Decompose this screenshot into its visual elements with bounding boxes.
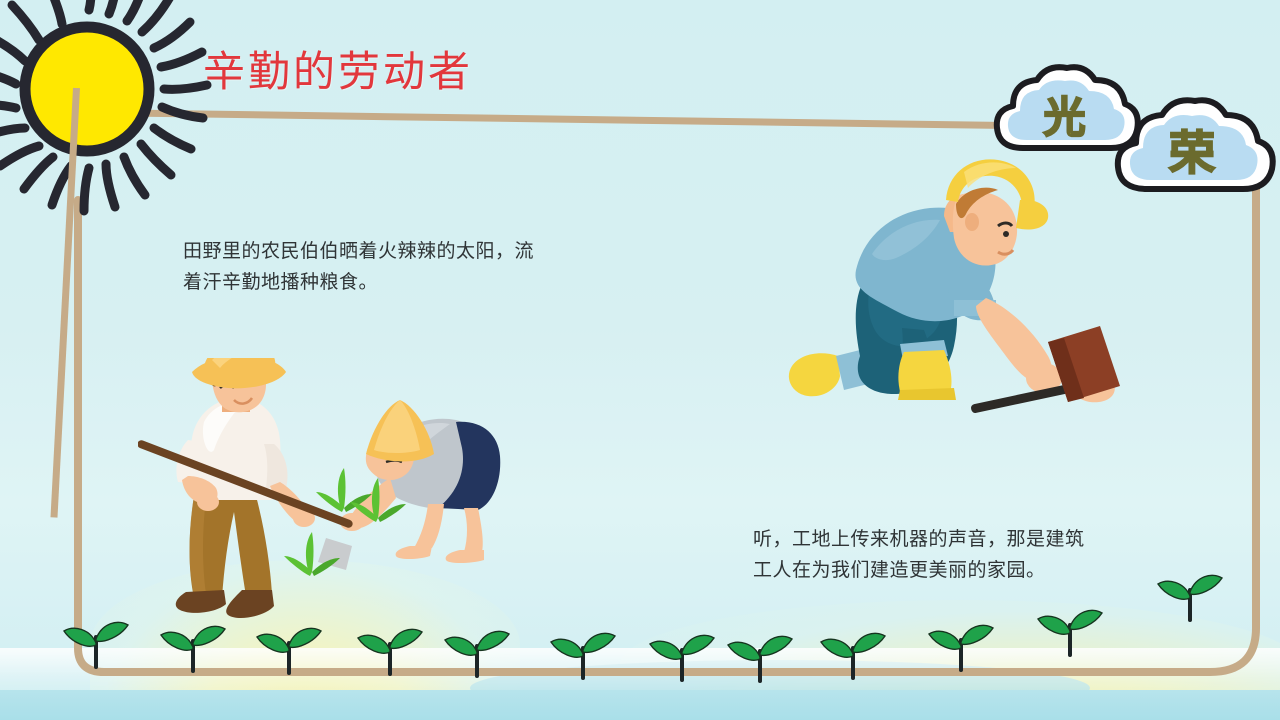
farmers-illustration [138, 358, 528, 623]
standing-farmer-sleeve-right [264, 444, 288, 488]
bending-farmer-leg-front [464, 508, 483, 552]
sun-icon [0, 0, 232, 238]
slide-canvas: 光 荣 辛勤的劳动者 田野里的农民伯伯晒着火辣辣的太阳，流 着汗辛勤地播种粮食。… [0, 0, 1280, 720]
worker-boot-sole [898, 388, 956, 400]
worker-glove-left [789, 353, 840, 396]
farmer-paragraph-line1: 田野里的农民伯伯晒着火辣辣的太阳，流 [183, 236, 583, 267]
standing-farmer-shoe-back [176, 590, 226, 613]
builder-paragraph: 听，工地上传来机器的声音，那是建筑 工人在为我们建造更美丽的家园。 [753, 524, 1153, 586]
builder-paragraph-line1: 听，工地上传来机器的声音，那是建筑 [753, 524, 1153, 555]
hammer-handle [970, 383, 1074, 413]
bending-farmer-foot-back [396, 546, 432, 559]
builder-paragraph-line2: 工人在为我们建造更美丽的家园。 [753, 555, 1153, 586]
sun-illustration [0, 0, 232, 238]
worker-helmet-brim [1016, 200, 1048, 230]
standing-farmer-shoe-front [226, 590, 274, 618]
bending-farmer-foot-front [446, 550, 484, 563]
farmer-paragraph: 田野里的农民伯伯晒着火辣辣的太阳，流 着汗辛勤地播种粮食。 [183, 236, 583, 298]
construction-worker-illustration [748, 150, 1138, 435]
page-title: 辛勤的劳动者 [203, 38, 473, 99]
farmer-paragraph-line2: 着汗辛勤地播种粮食。 [183, 267, 583, 298]
worker-eye [1003, 231, 1009, 237]
bending-farmer-leg-back [414, 504, 444, 548]
standing-farmer-hand-left [197, 493, 219, 511]
water-band [0, 690, 1280, 720]
worker-ear [965, 213, 979, 231]
